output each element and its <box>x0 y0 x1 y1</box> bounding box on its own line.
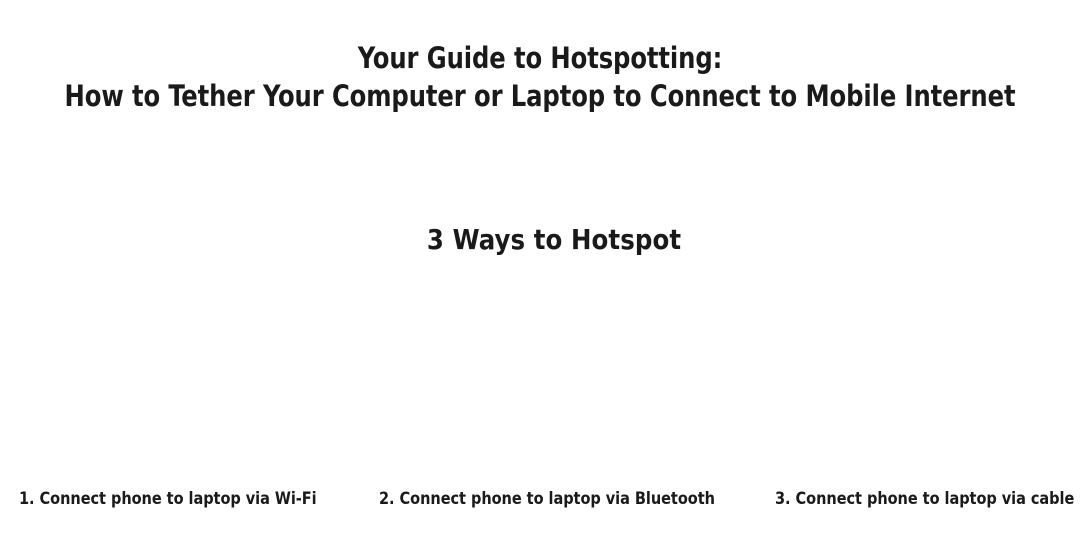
caption-method-2: 2. Connect phone to laptop via Bluetooth <box>379 488 715 510</box>
title-line-2: How to Tether Your Computer or Laptop to… <box>38 78 1042 115</box>
caption-method-3: 3. Connect phone to laptop via cable <box>775 488 1074 510</box>
page-title: Your Guide to Hotspotting: How to Tether… <box>0 40 1080 115</box>
illustration-cable <box>720 280 1080 480</box>
section-heading-label: 3 Ways to Hotspot <box>427 223 681 257</box>
caption-method-1: 1. Connect phone to laptop via Wi-Fi <box>19 488 317 510</box>
illustration-bluetooth <box>360 280 720 480</box>
illustration-wifi <box>0 280 360 480</box>
caption-row: 1. Connect phone to laptop via Wi-Fi 2. … <box>0 488 1080 514</box>
title-line-1: Your Guide to Hotspotting: <box>38 40 1042 77</box>
illustration-row <box>0 280 1080 480</box>
infographic-page: Your Guide to Hotspotting: How to Tether… <box>0 0 1080 552</box>
section-heading: 3 Ways to Hotspot <box>0 223 1080 257</box>
